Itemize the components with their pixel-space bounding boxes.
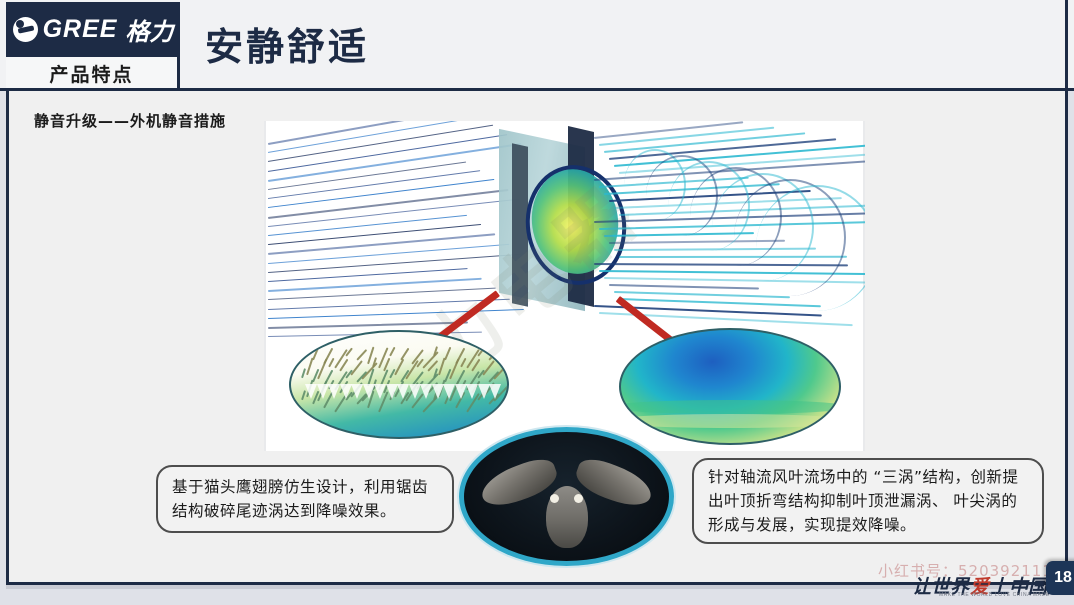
owl-photo (459, 427, 674, 566)
gree-logo-text: GREE (43, 15, 118, 44)
frame-border-left (6, 88, 9, 585)
vortex-band-green (619, 400, 841, 414)
callout-left: 基于猫头鹰翅膀仿生设计，利用锯齿结构破碎尾迹涡达到降噪效果。 (156, 465, 454, 533)
tab-product-features[interactable]: 产品特点 (6, 57, 180, 89)
tab-product-features-label: 产品特点 (49, 60, 133, 87)
slide-header: GREE 格力 产品特点 安静舒适 (0, 0, 1074, 91)
serrated-edge-vectors (291, 332, 507, 437)
brand-slogan: 让世界 爱 上中国造 MAKE THE WORLD LOVE CHINA MAD… (921, 572, 1057, 598)
header-divider (0, 88, 1074, 91)
callout-right: 针对轴流风叶流场中的 “三涡”结构，创新提出叶顶折弯结构抑制叶顶泄漏涡、 叶尖涡… (692, 458, 1044, 544)
brand-slogan-english: MAKE THE WORLD LOVE CHINA MADE (939, 592, 1050, 598)
serrated-blade-detail (289, 330, 509, 439)
vortex-contour-detail (619, 328, 841, 445)
frame-bottom-shadow (6, 585, 1070, 589)
page-number-badge: 18 (1046, 561, 1074, 595)
owl-eye-right (574, 494, 583, 503)
slide-root: GREE 格力 产品特点 安静舒适 静音升级——外机静音措施 格力电器 (0, 0, 1074, 605)
page-title: 安静舒适 (205, 16, 369, 71)
gree-logo: GREE 格力 (6, 2, 180, 57)
section-subtitle: 静音升级——外机静音措施 (34, 110, 226, 131)
owl-eye-left (550, 494, 559, 503)
gree-logo-chinese: 格力 (125, 12, 173, 47)
frame-border-right (1065, 0, 1068, 585)
callout-right-text: 针对轴流风叶流场中的 “三涡”结构，创新提出叶顶折弯结构抑制叶顶泄漏涡、 叶尖涡… (708, 465, 1028, 537)
callout-left-text: 基于猫头鹰翅膀仿生设计，利用锯齿结构破碎尾迹涡达到降噪效果。 (172, 475, 438, 523)
vortex-band-yellow (619, 414, 841, 428)
gree-logo-mark-icon (13, 17, 38, 42)
panel-edge-left (264, 121, 266, 451)
